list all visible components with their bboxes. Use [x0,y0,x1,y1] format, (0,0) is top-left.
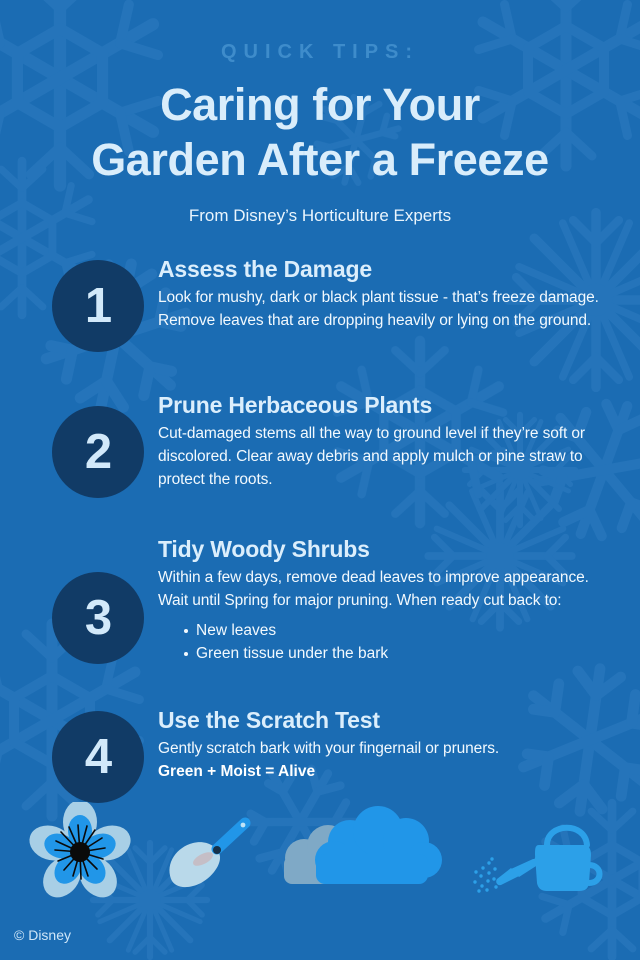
tip-emphasis-text: Green + Moist = Alive [158,761,618,783]
tip-item: 4 Use the Scratch Test Gently scratch ba… [0,705,640,803]
step-number-badge: 4 [52,711,144,803]
tip-body: Assess the Damage Look for mushy, dark o… [144,254,618,332]
shrub-icon [284,806,442,884]
copyright-text: © Disney [14,928,71,942]
tip-title: Assess the Damage [158,256,618,284]
watering-can-icon [473,828,599,893]
tip-item: 3 Tidy Woody Shrubs Within a few days, r… [0,534,640,665]
step-number-badge: 3 [52,572,144,664]
tip-body: Use the Scratch Test Gently scratch bark… [144,705,618,783]
tip-item: 2 Prune Herbaceous Plants Cut-damaged st… [0,390,640,498]
title-line-1: Caring for Your [160,79,480,130]
title-line-2: Garden After a Freeze [91,134,549,185]
tip-text: Look for mushy, dark or black plant tiss… [158,287,618,333]
tip-text: Within a few days, remove dead leaves to… [158,567,618,613]
infographic-poster: QUICK TIPS: Caring for Your Garden After… [0,0,640,960]
tip-body: Tidy Woody Shrubs Within a few days, rem… [144,534,618,665]
tips-list: 1 Assess the Damage Look for mushy, dark… [0,254,640,803]
tip-title: Tidy Woody Shrubs [158,536,618,564]
tip-body: Prune Herbaceous Plants Cut-damaged stem… [144,390,618,491]
tip-item: 1 Assess the Damage Look for mushy, dark… [0,254,640,352]
page-subtitle: From Disney’s Horticulture Experts [0,206,640,226]
list-item: Green tissue under the bark [184,642,618,665]
footer-illustration-row [0,802,640,912]
trowel-icon [169,823,245,887]
step-number-badge: 2 [52,406,144,498]
list-item: New leaves [184,619,618,642]
tip-title: Prune Herbaceous Plants [158,392,618,420]
tip-text: Gently scratch bark with your fingernail… [158,738,618,761]
flower-icon [25,802,135,905]
step-number-badge: 1 [52,260,144,352]
eyebrow-label: QUICK TIPS: [0,42,640,62]
tip-text: Cut-damaged stems all the way to ground … [158,423,618,492]
page-title: Caring for Your Garden After a Freeze [28,78,612,188]
poster-header: QUICK TIPS: Caring for Your Garden After… [0,0,640,226]
tip-bullet-list: New leaves Green tissue under the bark [158,619,618,666]
tip-title: Use the Scratch Test [158,707,618,735]
